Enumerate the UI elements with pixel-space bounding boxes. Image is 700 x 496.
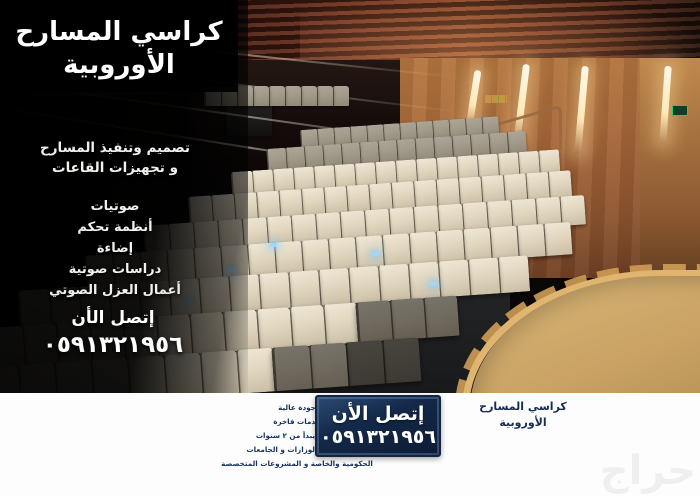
services-intro: تصميم وتنفيذ المسارح و تجهيزات القاعات <box>0 138 230 179</box>
list-item: الحكومية والخاصة و المشروعات المتخصصة <box>217 457 377 471</box>
headline-line-1: كراسي المسارح <box>15 17 222 47</box>
call-now-badge[interactable]: إتصل الأن ٠٥٩١٣٢١٩٥٦ <box>315 395 441 457</box>
headline-line-2: الأوروبية <box>0 49 238 82</box>
services-block: تصميم وتنفيذ المسارح و تجهيزات القاعات ص… <box>0 138 230 301</box>
wood-wall-panel-right <box>640 58 700 288</box>
list-item: صوتيات <box>0 196 230 217</box>
wall-socket-panel <box>485 95 507 103</box>
services-list: صوتيات أنظمة تحكم إضاءة دراسات صوتية أعم… <box>0 196 230 301</box>
list-item: أعمال العزل الصوتي <box>0 280 230 301</box>
services-intro-line-2: و تجهيزات القاعات <box>0 158 230 178</box>
step-light <box>430 282 437 286</box>
advertisement-poster: كراسي المسارح الأوروبية تصميم وتنفيذ الم… <box>0 0 700 496</box>
call-now-label: إتصل الأن <box>332 404 425 425</box>
services-intro-line-1: تصميم وتنفيذ المسارح <box>0 138 230 158</box>
brand-line-1: كراسي المسارح <box>448 399 598 415</box>
list-item: إضاءة <box>0 238 230 259</box>
brand-name: كراسي المسارح الأوروبية <box>448 399 598 431</box>
list-item: دراسات صوتية <box>0 259 230 280</box>
bottom-info-bar: جودة عالية خدمات فاخرة ضمان يبدأ من ٢ سن… <box>0 393 700 496</box>
page-title: كراسي المسارح الأوروبية <box>0 16 238 83</box>
phone-number: ٠٥٩١٣٢١٩٥٦ <box>320 427 436 449</box>
step-light <box>270 243 277 247</box>
brand-line-2: الأوروبية <box>448 415 598 431</box>
call-now-label: إتصل الأن <box>0 308 226 328</box>
haraj-watermark: حراج <box>600 448 696 494</box>
exit-sign-icon <box>672 105 688 116</box>
call-to-action: إتصل الأن ٠٥٩١٣٢١٩٥٦ <box>0 308 226 358</box>
phone-number[interactable]: ٠٥٩١٣٢١٩٥٦ <box>0 332 226 358</box>
list-item: أنظمة تحكم <box>0 217 230 238</box>
step-light <box>372 252 379 256</box>
